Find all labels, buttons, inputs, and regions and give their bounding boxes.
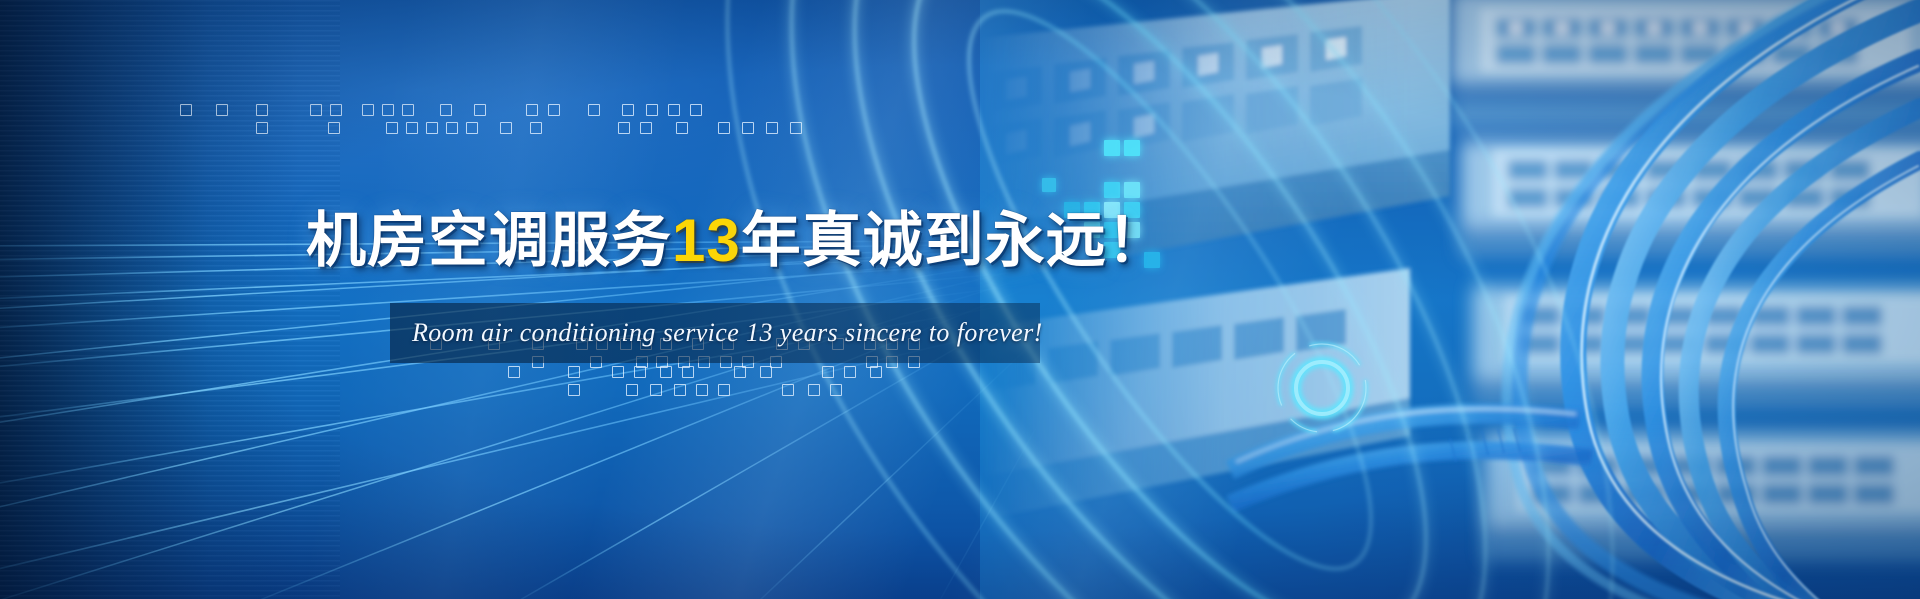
decor-pixel-squares-top [170,104,870,140]
decor-square [568,366,580,378]
mosaic-block [1104,140,1120,156]
decor-square [718,122,730,134]
headline-part-2: 年真诚到永远！ [741,207,1168,274]
decor-square [362,104,374,116]
decor-square [650,384,662,396]
decor-square [216,104,228,116]
decor-square [690,104,702,116]
decor-square [466,122,478,134]
decor-square [626,384,638,396]
mosaic-block [1124,182,1140,198]
decor-square [612,366,624,378]
decor-square [696,384,708,396]
decor-square [646,104,658,116]
decor-square [734,366,746,378]
decor-square [618,122,630,134]
decor-square [674,384,686,396]
decor-square [640,122,652,134]
decor-square [446,122,458,134]
decor-square [660,366,672,378]
mosaic-block [1124,140,1140,156]
decor-square [310,104,322,116]
decor-square [256,122,268,134]
decor-square [782,384,794,396]
decor-square [766,122,778,134]
subtitle: Room air conditioning service 13 years s… [412,303,1024,363]
decor-square [406,122,418,134]
decor-square [426,122,438,134]
decor-pixel-squares-bottom-lower [430,366,1130,402]
decor-square [508,366,520,378]
decor-square [844,366,856,378]
decor-square [742,122,754,134]
decor-square [822,366,834,378]
decor-square [668,104,680,116]
decor-square [402,104,414,116]
decor-square [440,104,452,116]
decor-square [676,122,688,134]
decor-square [634,366,646,378]
headline-years-number: 13 [672,207,741,274]
hero-banner: 机房空调服务13年真诚到永远！ Room air conditioning se… [0,0,1920,599]
decor-square [682,366,694,378]
decor-square [328,122,340,134]
page-title: 机房空调服务13年真诚到永远！ [306,206,1168,276]
decor-square [870,366,882,378]
decor-square [808,384,820,396]
hud-ring-icon [1262,328,1382,448]
decor-square [500,122,512,134]
decor-square [382,104,394,116]
decor-square [622,104,634,116]
decor-square [790,122,802,134]
decor-square [830,384,842,396]
decor-square [760,366,772,378]
decor-square [180,104,192,116]
decor-square [256,104,268,116]
mosaic-block [1104,182,1120,198]
decor-square [526,104,538,116]
decor-square [588,104,600,116]
decor-square [474,104,486,116]
headline-part-1: 机房空调服务 [306,207,672,274]
decor-square [386,122,398,134]
diagonal-light-bands [0,0,1920,599]
decor-square [530,122,542,134]
decor-square [330,104,342,116]
mosaic-block [1042,178,1056,192]
decor-square [718,384,730,396]
decor-square [548,104,560,116]
decor-square [568,384,580,396]
